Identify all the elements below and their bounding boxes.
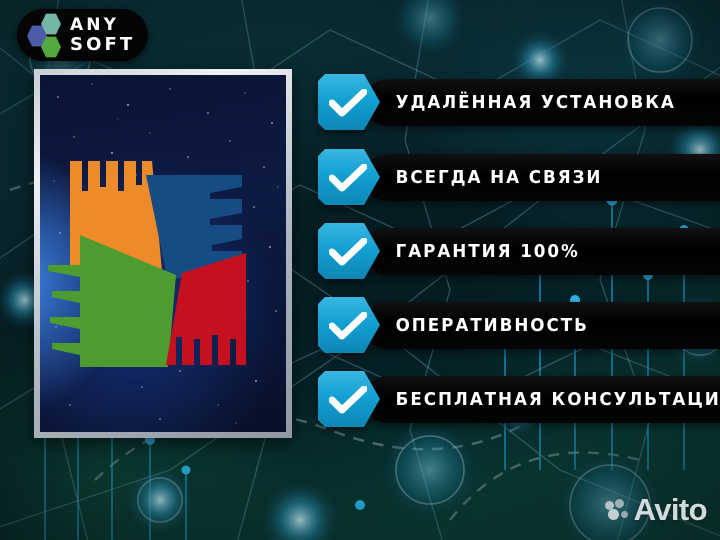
feature-bar: ВСЕГДА НА СВЯЗИ: [364, 154, 720, 201]
feature-bar: ОПЕРАТИВНОСТЬ: [364, 302, 720, 349]
avito-dots-icon: [605, 499, 631, 521]
anysoft-logo: ANY SOFT: [17, 9, 148, 61]
logo-line-2: SOFT: [70, 36, 135, 53]
feature-row-promptness[interactable]: ОПЕРАТИВНОСТЬ: [318, 297, 720, 353]
product-card-inner: [40, 75, 286, 432]
logo-wordmark: ANY SOFT: [70, 17, 135, 53]
promo-banner: ANY SOFT: [0, 0, 720, 540]
check-icon: [318, 74, 380, 130]
feature-bar: УДАЛЁННАЯ УСТАНОВКА: [364, 79, 720, 126]
feature-label: УДАЛЁННАЯ УСТАНОВКА: [364, 92, 676, 113]
feature-bar: БЕСПЛАТНАЯ КОНСУЛЬТАЦИЯ: [364, 376, 720, 423]
hexagon-cluster-icon: [25, 12, 69, 58]
check-icon: [318, 297, 380, 353]
logo-line-1: ANY: [70, 17, 135, 33]
feature-label: БЕСПЛАТНАЯ КОНСУЛЬТАЦИЯ: [364, 389, 720, 410]
feature-row-guarantee-100[interactable]: ГАРАНТИЯ 100%: [318, 223, 720, 279]
check-icon: [318, 223, 380, 279]
check-icon: [318, 149, 380, 205]
feature-row-remote-install[interactable]: УДАЛЁННАЯ УСТАНОВКА: [318, 74, 720, 130]
feature-label: ОПЕРАТИВНОСТЬ: [364, 315, 589, 336]
product-card: [34, 69, 292, 438]
avg-logo-icon: [40, 75, 286, 432]
feature-row-free-consultation[interactable]: БЕСПЛАТНАЯ КОНСУЛЬТАЦИЯ: [318, 371, 720, 427]
feature-row-always-in-touch[interactable]: ВСЕГДА НА СВЯЗИ: [318, 149, 720, 205]
avito-wordmark: Avito: [634, 492, 707, 528]
feature-label: ВСЕГДА НА СВЯЗИ: [364, 167, 602, 188]
avito-watermark: Avito: [605, 492, 707, 528]
check-icon: [318, 371, 380, 427]
feature-bar: ГАРАНТИЯ 100%: [364, 228, 720, 275]
feature-label: ГАРАНТИЯ 100%: [364, 241, 580, 262]
